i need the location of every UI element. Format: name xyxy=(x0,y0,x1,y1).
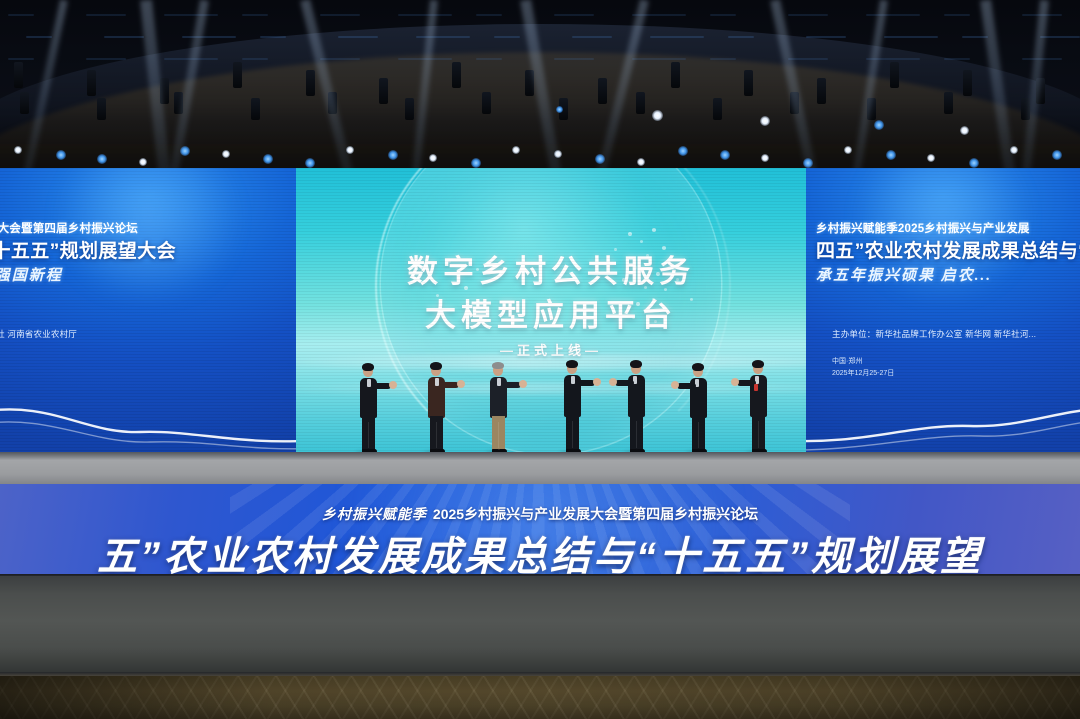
participant-hair xyxy=(630,360,642,368)
participant-hair xyxy=(752,360,764,368)
participant-shirt xyxy=(571,376,575,384)
participant-leg-gap xyxy=(572,421,573,448)
participant xyxy=(620,359,654,454)
participant-leg-gap xyxy=(636,421,637,448)
stage-photograph: 村振兴与产业发展大会暨第四届乡村振兴论坛 果总结与“十五五”规划展望大会 硕果 … xyxy=(0,0,1080,719)
participant-hair xyxy=(362,363,374,371)
participant-leg-gap xyxy=(368,422,369,448)
front-stage-banner: 乡村振兴赋能季2025乡村振兴与产业发展大会暨第四届乡村振兴论坛 五”农业农村发… xyxy=(0,484,1080,578)
participant-shirt xyxy=(435,378,439,386)
stage-apron xyxy=(0,576,1080,676)
participant-shirt xyxy=(497,378,501,386)
participant-hand xyxy=(593,378,601,386)
participants-row xyxy=(0,0,1080,486)
participant xyxy=(352,362,386,454)
participant-hand xyxy=(457,380,465,388)
participant-leg-gap xyxy=(436,422,437,448)
participant xyxy=(482,361,516,454)
banner-line1: 乡村振兴赋能季2025乡村振兴与产业发展大会暨第四届乡村振兴论坛 xyxy=(0,504,1080,524)
participant xyxy=(420,361,454,454)
participant-leg-gap xyxy=(758,421,759,448)
participant-hair xyxy=(492,362,504,369)
participant-hair xyxy=(566,360,578,368)
participant-hand xyxy=(671,381,679,389)
banner-script-prefix: 乡村振兴赋能季 xyxy=(322,508,427,523)
banner-line1-text: 2025乡村振兴与产业发展大会暨第四届乡村振兴论坛 xyxy=(433,506,758,522)
participant xyxy=(682,362,716,454)
participant-hand xyxy=(731,378,739,386)
participant-hand xyxy=(389,381,397,389)
participant-hair xyxy=(430,362,442,370)
participant-leg-gap xyxy=(498,422,499,448)
parquet-floor-vignette xyxy=(0,676,1080,719)
stage-floor-shadow xyxy=(0,452,1080,460)
participant xyxy=(556,359,590,454)
participant-hair xyxy=(692,363,704,371)
participant-shirt xyxy=(367,379,371,387)
participant-extended-arm xyxy=(615,380,634,386)
participant-extended-arm xyxy=(677,383,696,389)
participant-leg-gap xyxy=(698,422,699,448)
participant-hand xyxy=(609,378,617,386)
banner-line2: 五”农业农村发展成果总结与“十五五”规划展望 xyxy=(0,524,1080,578)
participant-hand xyxy=(519,380,527,388)
participant-badge xyxy=(754,384,758,391)
participant xyxy=(742,359,776,454)
